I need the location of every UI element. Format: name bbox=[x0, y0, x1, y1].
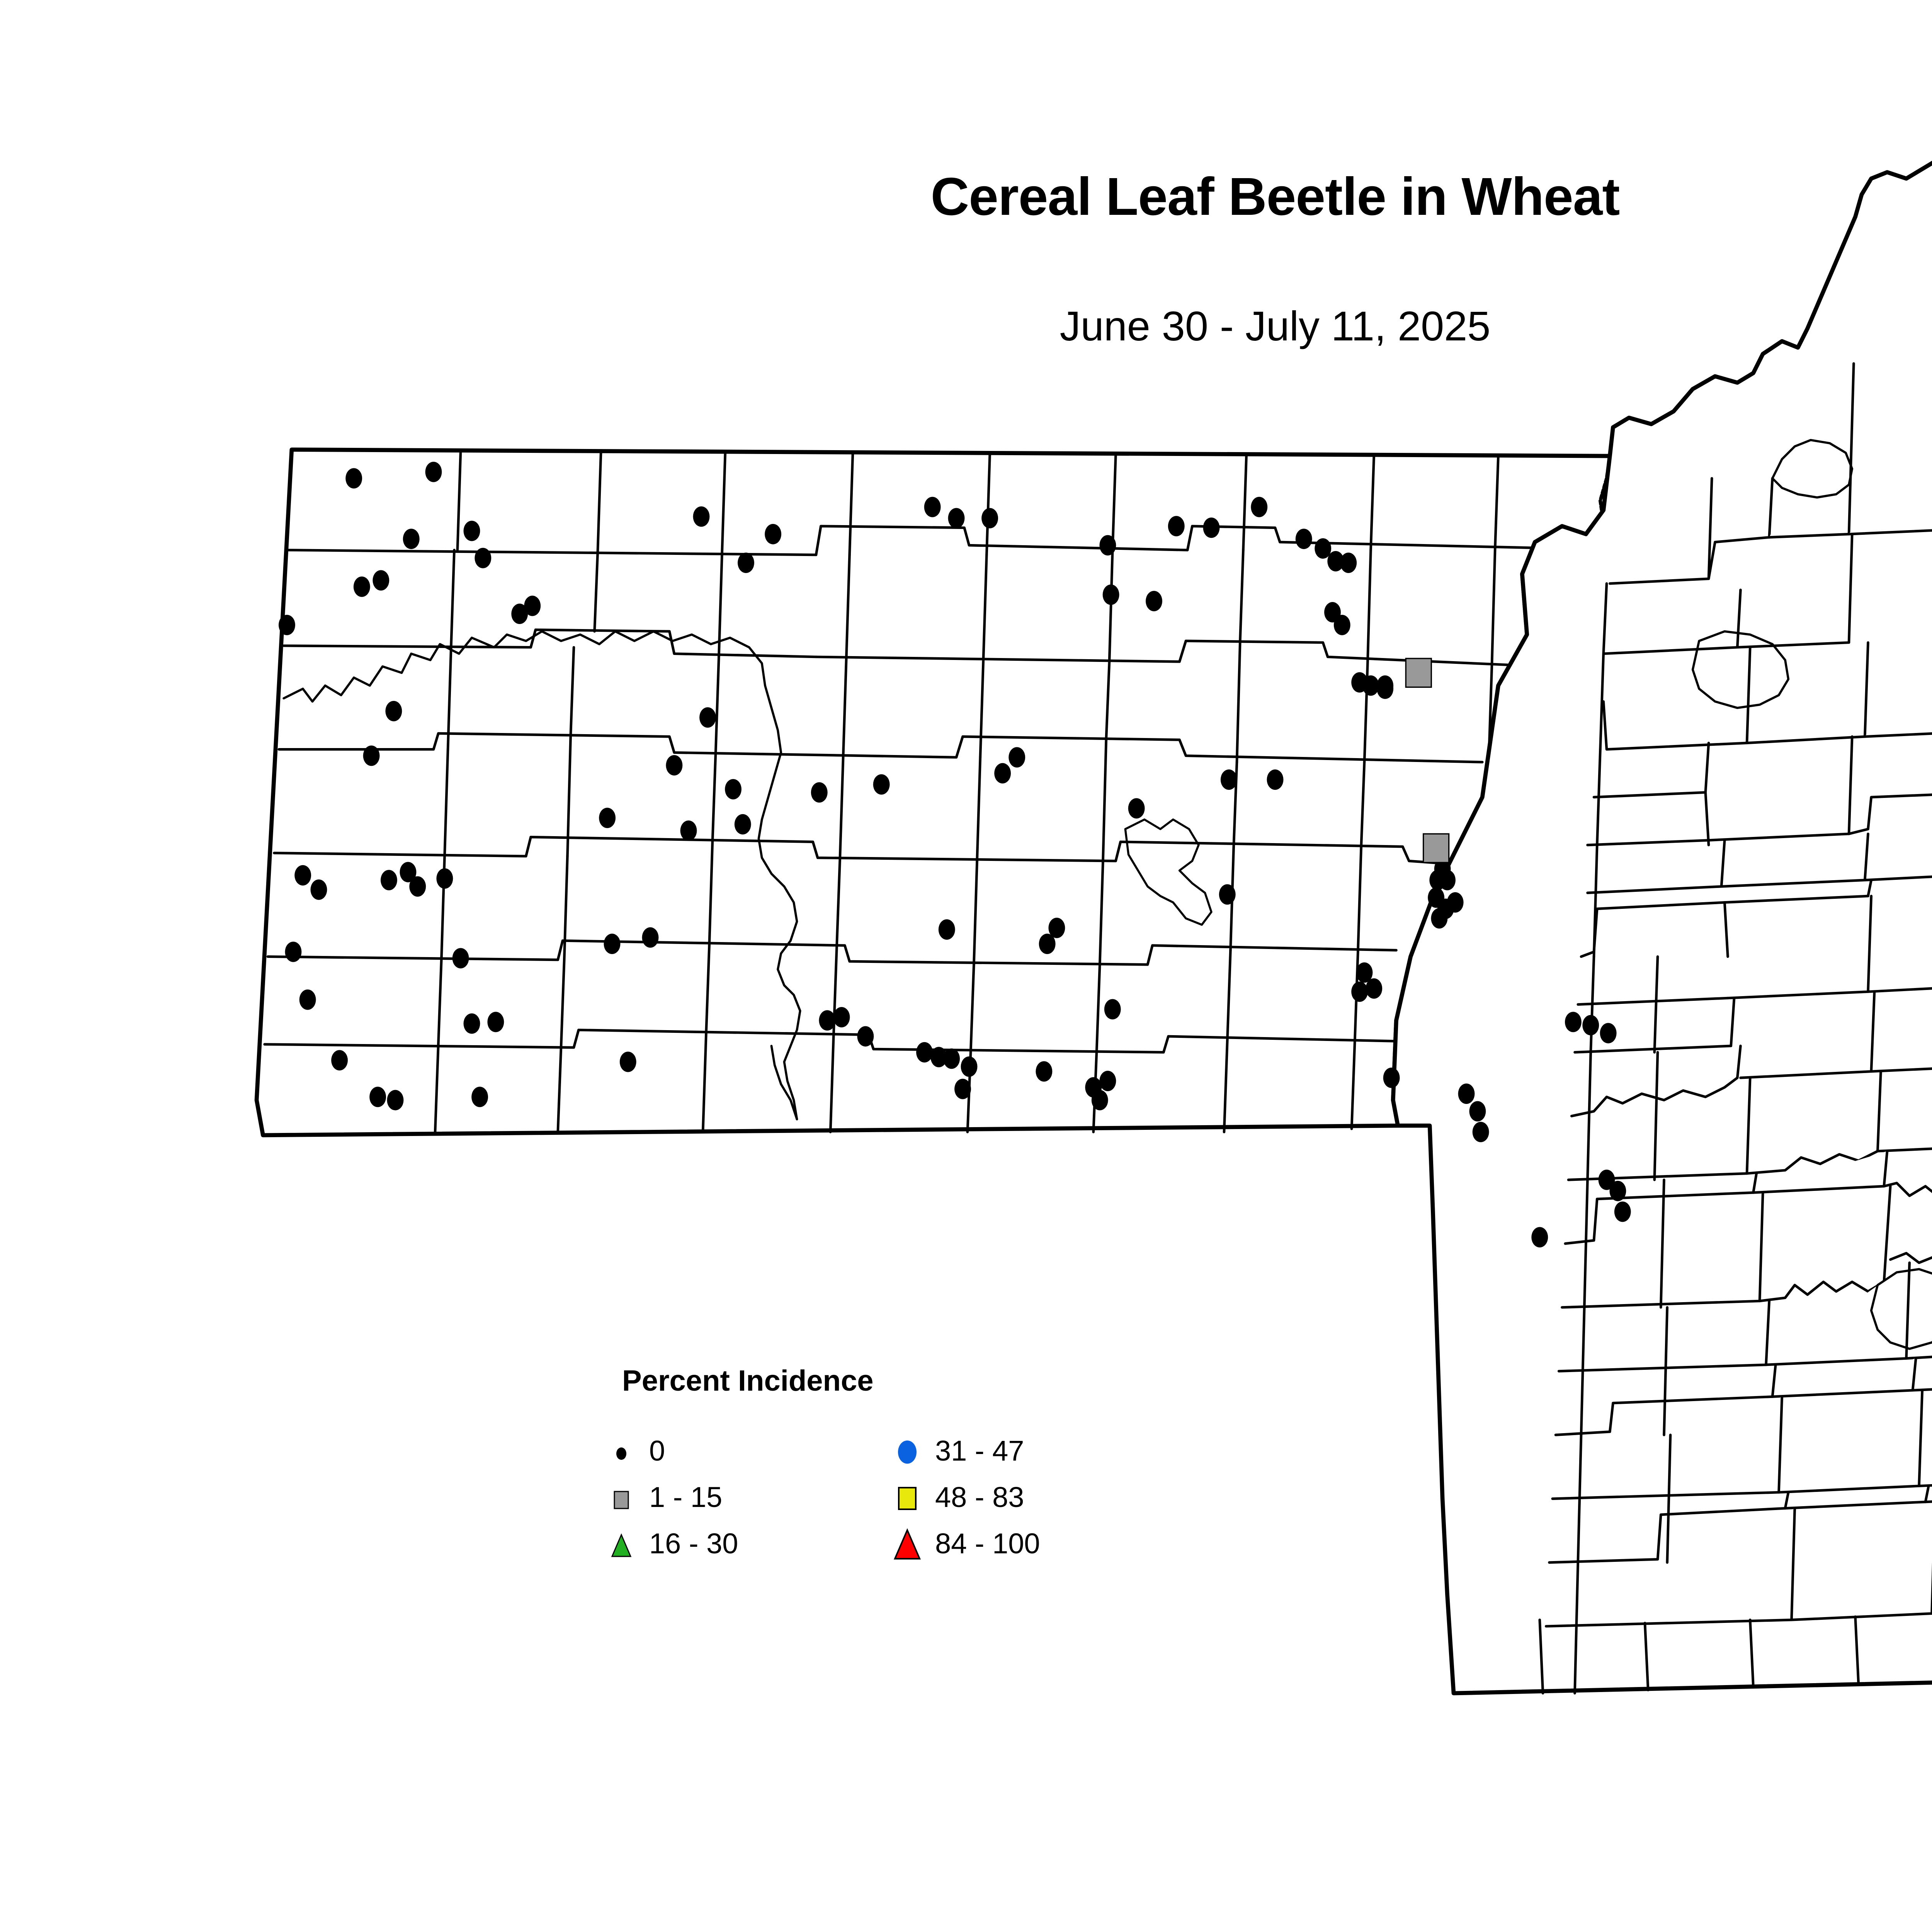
survey-point bbox=[385, 701, 402, 721]
triangle-icon-green bbox=[603, 1526, 640, 1561]
survey-point bbox=[1251, 497, 1267, 517]
survey-point bbox=[833, 1007, 850, 1027]
survey-point bbox=[1146, 591, 1162, 611]
survey-point bbox=[294, 865, 311, 886]
survey-point bbox=[599, 808, 616, 828]
survey-point bbox=[452, 948, 469, 968]
page-title: Cereal Leaf Beetle in Wheat bbox=[0, 170, 1932, 223]
survey-point bbox=[1128, 798, 1145, 819]
survey-point bbox=[994, 763, 1011, 784]
legend-label-5: 84 - 100 bbox=[935, 1529, 1040, 1559]
survey-point bbox=[1383, 1068, 1400, 1088]
survey-point bbox=[943, 1048, 960, 1069]
survey-point bbox=[765, 524, 781, 544]
survey-point bbox=[1103, 585, 1119, 605]
survey-point bbox=[1009, 747, 1025, 768]
survey-point bbox=[1609, 1181, 1626, 1201]
survey-point bbox=[471, 1087, 488, 1107]
survey-point bbox=[403, 529, 420, 549]
survey-point bbox=[285, 942, 302, 962]
survey-point bbox=[436, 868, 453, 889]
survey-point-gray bbox=[1406, 658, 1431, 687]
survey-point bbox=[857, 1026, 874, 1047]
survey-point bbox=[1048, 918, 1065, 938]
survey-point bbox=[1351, 981, 1368, 1002]
survey-point bbox=[954, 1079, 971, 1099]
triangle-icon-red bbox=[889, 1526, 926, 1561]
survey-point bbox=[939, 919, 955, 940]
survey-point bbox=[620, 1052, 636, 1072]
survey-point bbox=[1168, 516, 1185, 536]
survey-point bbox=[916, 1042, 933, 1063]
survey-point bbox=[409, 876, 426, 897]
survey-point bbox=[331, 1050, 348, 1071]
survey-point bbox=[735, 814, 751, 835]
page-subtitle: June 30 - July 11, 2025 bbox=[0, 305, 1932, 347]
survey-point bbox=[311, 879, 327, 900]
survey-point bbox=[1565, 1012, 1582, 1032]
small-circle-icon bbox=[603, 1434, 640, 1468]
legend-label-2: 16 - 30 bbox=[649, 1529, 738, 1559]
square-icon-yellow bbox=[889, 1480, 926, 1515]
survey-point bbox=[381, 870, 397, 890]
survey-point bbox=[961, 1056, 978, 1077]
survey-point bbox=[1267, 769, 1284, 790]
survey-point bbox=[487, 1012, 504, 1032]
map-canvas bbox=[0, 0, 1932, 1932]
survey-point bbox=[693, 506, 710, 527]
survey-point bbox=[345, 468, 362, 488]
survey-point bbox=[387, 1090, 404, 1111]
survey-point bbox=[464, 1014, 480, 1034]
survey-point bbox=[1439, 870, 1456, 890]
survey-point bbox=[1203, 517, 1220, 538]
survey-point bbox=[1296, 529, 1312, 549]
survey-point bbox=[1104, 999, 1121, 1019]
square-icon-gray bbox=[603, 1480, 640, 1515]
survey-point bbox=[425, 462, 442, 482]
legend-label-0: 0 bbox=[649, 1436, 665, 1466]
survey-point bbox=[1221, 769, 1237, 790]
survey-point bbox=[1340, 553, 1357, 573]
circle-icon-blue bbox=[889, 1434, 926, 1468]
legend: Percent Incidence 0 1 - 15 16 - 30 31 - … bbox=[603, 1364, 1144, 1634]
survey-point bbox=[948, 508, 965, 529]
survey-point bbox=[372, 570, 389, 591]
survey-point bbox=[819, 1010, 835, 1031]
survey-point bbox=[1447, 892, 1464, 913]
survey-point bbox=[1092, 1090, 1108, 1111]
survey-point bbox=[604, 934, 621, 954]
survey-point bbox=[1469, 1101, 1486, 1122]
survey-point bbox=[1614, 1202, 1631, 1222]
survey-point bbox=[1458, 1083, 1475, 1104]
survey-point bbox=[1099, 535, 1116, 556]
survey-point bbox=[666, 755, 682, 776]
survey-point bbox=[1431, 908, 1447, 929]
survey-point bbox=[474, 548, 491, 568]
survey-point bbox=[354, 577, 370, 597]
survey-point bbox=[1362, 675, 1379, 696]
survey-point bbox=[1099, 1071, 1116, 1091]
survey-point bbox=[924, 497, 941, 517]
survey-point bbox=[811, 782, 828, 803]
survey-point bbox=[1219, 884, 1236, 905]
survey-point bbox=[299, 990, 316, 1010]
survey-point bbox=[369, 1087, 386, 1107]
survey-point bbox=[464, 521, 480, 541]
survey-point bbox=[363, 745, 380, 766]
legend-title: Percent Incidence bbox=[622, 1364, 874, 1398]
survey-point-gray bbox=[1423, 834, 1449, 862]
survey-point bbox=[1377, 675, 1393, 696]
survey-point bbox=[699, 707, 716, 728]
survey-point bbox=[1600, 1023, 1617, 1043]
survey-point bbox=[1473, 1122, 1489, 1142]
survey-point bbox=[642, 927, 659, 948]
survey-point bbox=[1366, 978, 1382, 999]
survey-point bbox=[680, 820, 697, 841]
survey-point bbox=[524, 596, 541, 616]
survey-point bbox=[1036, 1061, 1052, 1082]
survey-point bbox=[279, 615, 295, 635]
survey-point bbox=[1582, 1015, 1599, 1036]
legend-label-3: 31 - 47 bbox=[935, 1436, 1024, 1466]
survey-point bbox=[725, 779, 742, 799]
survey-point bbox=[1531, 1227, 1548, 1248]
legend-label-1: 1 - 15 bbox=[649, 1482, 722, 1512]
survey-point bbox=[981, 508, 998, 529]
survey-point bbox=[1315, 538, 1331, 559]
survey-point bbox=[873, 774, 890, 795]
survey-point bbox=[738, 553, 754, 573]
legend-label-4: 48 - 83 bbox=[935, 1482, 1024, 1512]
survey-point bbox=[1334, 615, 1350, 635]
